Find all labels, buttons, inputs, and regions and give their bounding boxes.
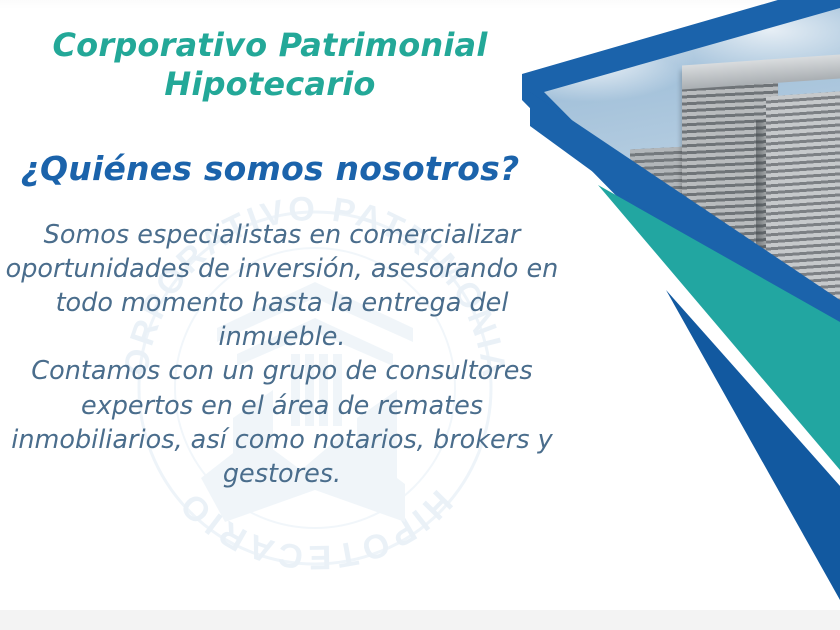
section-heading: ¿Quiénes somos nosotros? <box>0 149 550 188</box>
text-column: Corporativo Patrimonial Hipotecario ¿Qui… <box>0 0 594 491</box>
body-copy: Somos especialistas en comercializar opo… <box>0 218 590 491</box>
body-line: inmobiliarios, así como notarios, broker… <box>0 423 590 457</box>
brand-title: Corporativo Patrimonial Hipotecario <box>0 26 540 105</box>
brand-title-line-1: Corporativo Patrimonial <box>0 26 540 65</box>
bottom-strip <box>0 610 840 630</box>
watermark-inner-text: HIPOTECARIO <box>171 483 460 577</box>
promo-banner: CORPORATIVO PATRIMONIAL HIPOTECARIO Corp… <box>0 0 840 630</box>
body-line: oportunidades de inversión, asesorando e… <box>0 252 590 286</box>
body-line: gestores. <box>0 457 590 491</box>
brand-title-line-2: Hipotecario <box>0 65 540 104</box>
body-line: Somos especialistas en comercializar <box>0 218 590 252</box>
body-line: Contamos con un grupo de consultores <box>0 354 590 388</box>
body-line: inmueble. <box>0 320 590 354</box>
body-line: expertos en el área de remates <box>0 389 590 423</box>
body-line: todo momento hasta la entrega del <box>0 286 590 320</box>
